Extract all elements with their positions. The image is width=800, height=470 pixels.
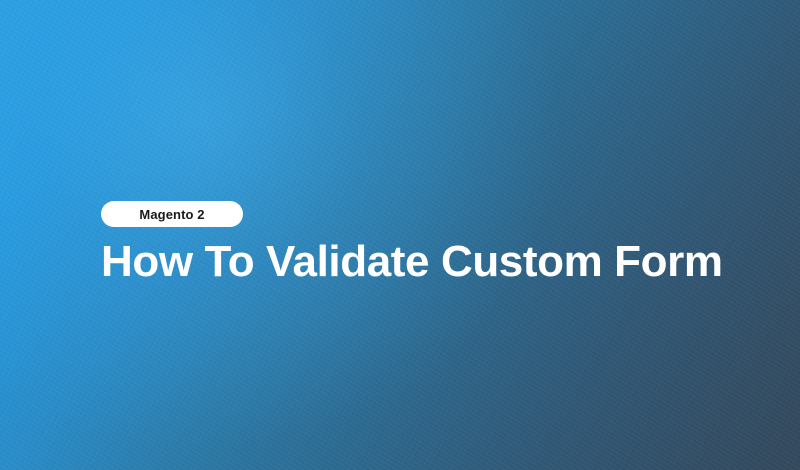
banner-content: Magento 2 How To Validate Custom Form <box>101 201 761 286</box>
page-title: How To Validate Custom Form <box>101 239 761 286</box>
category-badge[interactable]: Magento 2 <box>101 201 243 227</box>
article-hero-banner: Magento 2 How To Validate Custom Form <box>0 0 800 470</box>
